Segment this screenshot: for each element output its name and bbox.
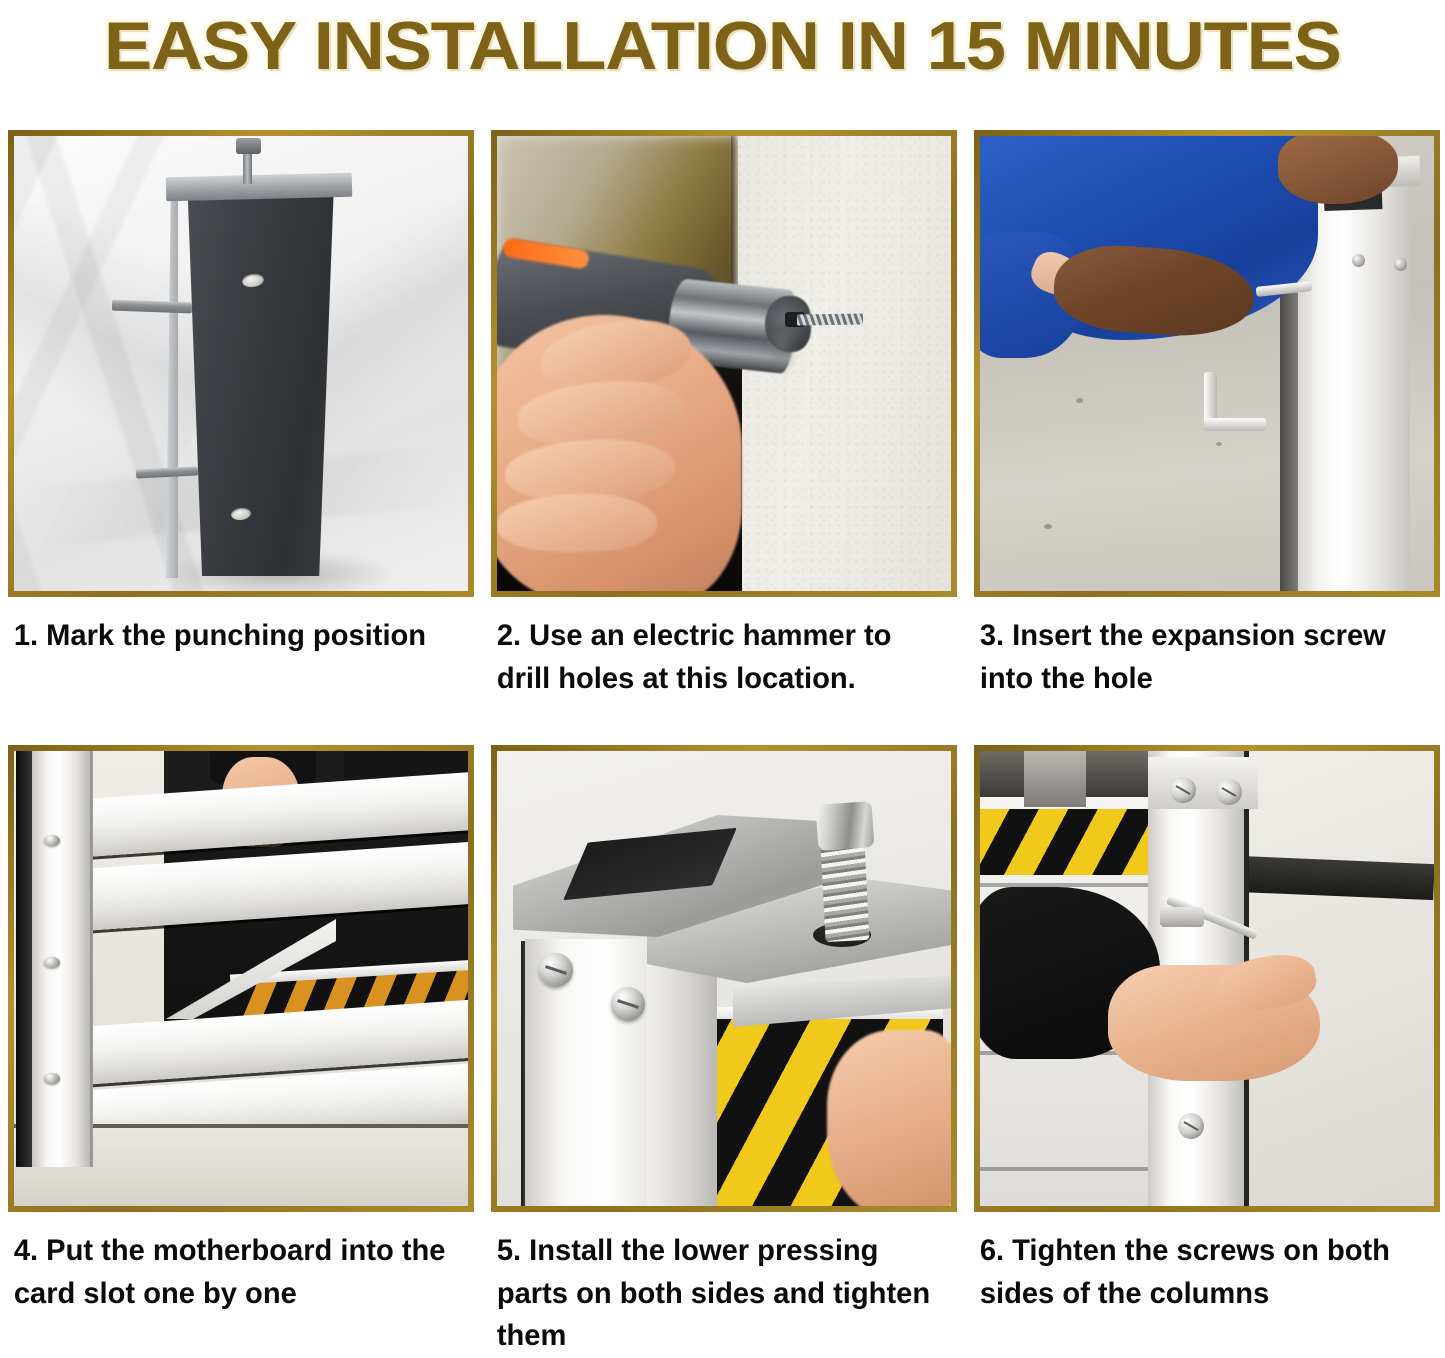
step-cell-5: 5. Install the lower pressing parts on b… — [491, 745, 957, 1358]
photo1-top-bolt-head — [236, 138, 261, 154]
step-photo-2 — [497, 136, 951, 591]
step-photo-frame-6 — [974, 745, 1440, 1212]
photo4-column-bolt — [44, 835, 60, 846]
step-photo-frame-2 — [491, 130, 957, 597]
photo3-allen-key-on-floor — [1204, 372, 1266, 434]
photo4-column-bolt — [44, 957, 60, 968]
photo3-post-screw — [1394, 258, 1407, 271]
photo4-column — [32, 751, 93, 1167]
photo6-top-frame-metal — [1024, 751, 1086, 807]
page-title: EASY INSTALLATION IN 15 MINUTES — [104, 12, 1341, 80]
step-cell-2: 2. Use an electric hammer to drill holes… — [491, 130, 957, 700]
photo1-column-cap — [166, 173, 353, 202]
step-photo-5 — [497, 751, 951, 1206]
step-photo-frame-4 — [8, 745, 474, 1212]
step-photo-3 — [980, 136, 1434, 591]
step-caption-1: 1. Mark the punching position — [8, 615, 460, 658]
photo6-column-cap — [1148, 757, 1258, 809]
step-caption-3: 3. Insert the expansion screw into the h… — [974, 615, 1426, 700]
title-banner: EASY INSTALLATION IN 15 MINUTES — [0, 0, 1445, 92]
step-cell-1: 1. Mark the punching position — [8, 130, 474, 700]
photo2-drill-bit — [797, 313, 863, 325]
steps-row-1: 1. Mark the punching position — [0, 130, 1445, 700]
photo3-floor-speck — [1044, 524, 1052, 529]
photo6-cap-screw — [1170, 777, 1196, 803]
step-cell-4: 4. Put the motherboard into the card slo… — [8, 745, 474, 1358]
step-caption-2: 2. Use an electric hammer to drill holes… — [491, 615, 943, 700]
photo2-drill-dust — [769, 332, 799, 376]
step-photo-4 — [14, 751, 468, 1206]
step-caption-6: 6. Tighten the screws on both sides of t… — [974, 1230, 1426, 1315]
step-photo-frame-3 — [974, 130, 1440, 597]
photo3-post-screw — [1352, 254, 1365, 267]
steps-grid: 1. Mark the punching position — [0, 92, 1445, 1352]
step-cell-6: 6. Tighten the screws on both sides of t… — [974, 745, 1440, 1358]
photo4-column-bolt — [44, 1073, 60, 1084]
photo5-bolt-thread — [820, 840, 869, 942]
step-caption-5: 5. Install the lower pressing parts on b… — [491, 1230, 943, 1358]
photo6-column-screw-lower — [1178, 1113, 1204, 1139]
step-cell-3: 3. Insert the expansion screw into the h… — [974, 130, 1440, 700]
photo6-board-seam — [980, 1167, 1170, 1171]
photo6-hex-key-head — [1160, 907, 1204, 927]
infographic-page: EASY INSTALLATION IN 15 MINUTES — [0, 0, 1445, 1352]
photo5-bracket-screw — [539, 953, 573, 987]
photo6-hazard-stripe — [980, 809, 1152, 875]
step-caption-4: 4. Put the motherboard into the card slo… — [8, 1230, 460, 1315]
photo3-floor-speck — [1216, 442, 1222, 446]
photo2-finger — [497, 493, 657, 554]
photo5-bolt-head — [815, 801, 874, 851]
photo5-hand — [827, 1030, 951, 1206]
step-photo-frame-1 — [8, 130, 474, 597]
photo3-floor-speck — [1076, 398, 1083, 403]
photo5-bracket-screw — [611, 987, 645, 1021]
step-photo-6 — [980, 751, 1434, 1206]
step-photo-1 — [14, 136, 468, 591]
step-photo-frame-5 — [491, 745, 957, 1212]
photo5-column-side-face — [647, 949, 717, 1206]
photo6-cap-screw — [1216, 779, 1242, 805]
steps-row-2: 4. Put the motherboard into the card slo… — [0, 745, 1445, 1358]
